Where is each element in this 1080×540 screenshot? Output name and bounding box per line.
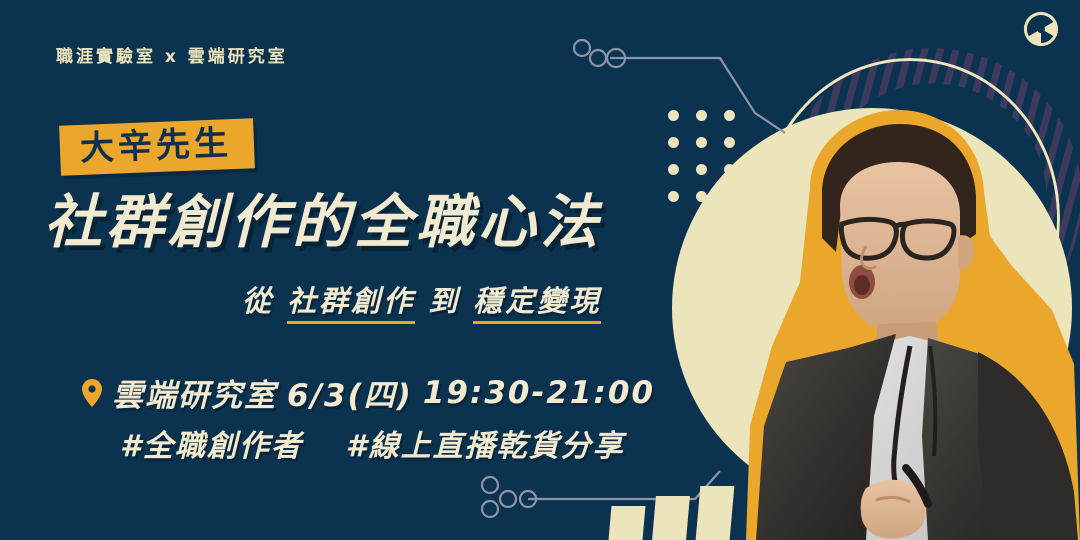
- event-details-line: 雲端研究室 6/3(四) 19:30-21:00: [82, 370, 655, 415]
- hashtag-livestream: #線上直播乾貨分享: [346, 429, 625, 464]
- speaker-portrait: [660, 96, 1080, 540]
- node-connector-top-icon: [570, 38, 800, 188]
- event-date: 6/3(四): [287, 370, 413, 415]
- event-subtitle: 從 社群創作 到 穩定變現: [242, 278, 601, 320]
- thin-arc-decor: [760, 58, 1060, 378]
- subtitle-middle: 到: [428, 284, 460, 318]
- subtitle-highlight-1: 社群創作: [287, 284, 415, 324]
- subtitle-highlight-2: 穩定變現: [473, 284, 601, 324]
- radiation-icon: [1022, 10, 1060, 48]
- page-title: 社群創作的全職心法: [44, 190, 602, 255]
- subtitle-prefix: 從: [242, 284, 274, 318]
- hashtag-full-time-creator: #全職創作者: [120, 429, 303, 464]
- event-time: 19:30-21:00: [423, 375, 655, 411]
- node-connector-bottom-icon: [470, 466, 730, 536]
- brand-collab-line: 職涯實驗室 x 雲端研究室: [56, 42, 288, 67]
- speaker-name-badge: 大辛先生: [59, 118, 255, 175]
- dot-grid-decor: [668, 110, 752, 218]
- bar-chart-accent-decor: [610, 486, 732, 540]
- map-pin-icon: [82, 379, 102, 407]
- cream-circle-backdrop: [672, 108, 1072, 508]
- striped-arc-decor: [782, 48, 1080, 348]
- event-hashtags: #全職創作者 #線上直播乾貨分享: [120, 421, 625, 465]
- event-venue: 雲端研究室: [112, 370, 277, 415]
- event-poster: 職涯實驗室 x 雲端研究室 大辛先生 社群創作的全職心法 從 社群創作 到 穩定…: [0, 0, 1080, 540]
